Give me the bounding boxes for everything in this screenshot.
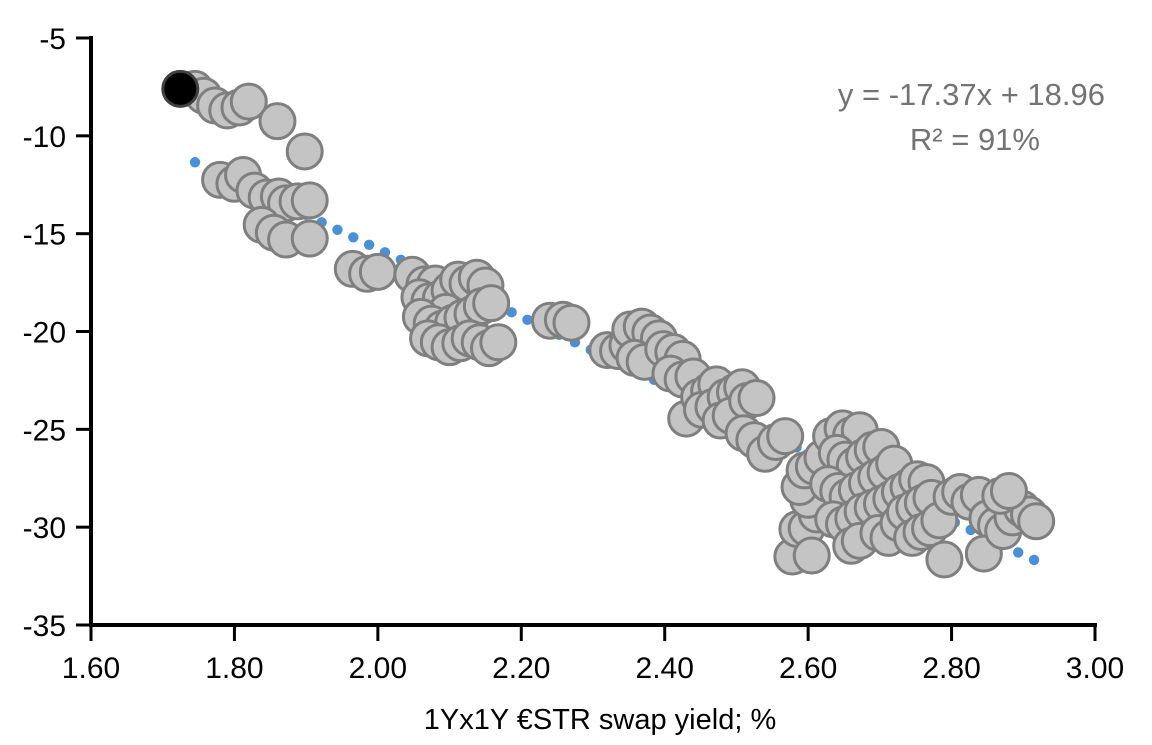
data-point <box>292 183 327 218</box>
trendline-dot <box>364 240 374 250</box>
data-point <box>768 419 803 454</box>
plot-area: -5-10-15-20-25-30-35 1.601.802.002.202.4… <box>0 0 1152 745</box>
x-tick-label: 2.40 <box>636 652 694 685</box>
scatter-chart: -5-10-15-20-25-30-35 1.601.802.002.202.4… <box>0 0 1152 745</box>
data-point <box>794 538 829 573</box>
x-tick-label: 1.80 <box>205 652 263 685</box>
y-tick-label: -35 <box>23 610 66 643</box>
x-tick-label: 2.80 <box>922 652 980 685</box>
trendline-dot <box>1013 547 1023 557</box>
trendline-dot <box>348 232 358 242</box>
data-point <box>554 305 589 340</box>
data-point <box>1019 504 1054 539</box>
y-tick-label: -15 <box>23 219 66 252</box>
data-point <box>991 473 1026 508</box>
data-point <box>287 134 322 169</box>
data-point <box>360 254 395 289</box>
data-point <box>474 286 509 321</box>
x-tick-label: 2.00 <box>349 652 407 685</box>
data-point <box>292 221 327 256</box>
y-tick-label: -20 <box>23 317 66 350</box>
x-tick-label: 1.60 <box>62 652 120 685</box>
data-point <box>260 104 295 139</box>
data-point <box>481 325 516 360</box>
trendline-dot <box>1029 555 1039 565</box>
x-tick-label: 2.60 <box>779 652 837 685</box>
data-point <box>739 381 774 416</box>
y-tick-label: -5 <box>39 23 66 56</box>
data-point <box>927 542 962 577</box>
x-tick-label: 2.20 <box>492 652 550 685</box>
r-squared-label: R² = 91% <box>910 122 1040 157</box>
trendline-dot <box>190 157 200 167</box>
y-tick-label: -30 <box>23 512 66 545</box>
chart-annotations: y = -17.37x + 18.96 R² = 91% <box>838 77 1105 157</box>
y-axis-ticks: -5-10-15-20-25-30-35 <box>23 23 91 643</box>
regression-equation-label: y = -17.37x + 18.96 <box>838 77 1105 112</box>
x-axis-title: 1Yx1Y €STR swap yield; % <box>424 704 776 736</box>
y-tick-label: -25 <box>23 414 66 447</box>
trendline-dot <box>332 225 342 235</box>
data-point-highlighted <box>163 71 198 106</box>
y-tick-label: -10 <box>23 121 66 154</box>
x-axis-ticks: 1.601.802.002.202.402.602.803.00 <box>62 625 1124 685</box>
x-tick-label: 3.00 <box>1066 652 1124 685</box>
